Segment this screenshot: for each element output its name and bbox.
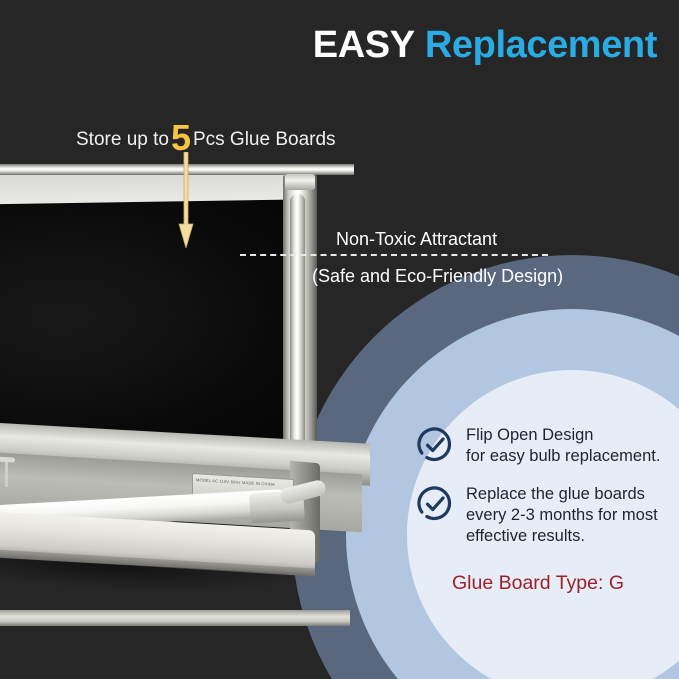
hinge-cap-top: [285, 174, 315, 190]
lid-bottom-rail: [0, 610, 350, 626]
glue-board-surface: [0, 199, 306, 452]
feature-item-label: Flip Open Design for easy bulb replaceme…: [466, 424, 660, 467]
dashed-divider: [240, 254, 548, 256]
feature-item-flip-open: Flip Open Design for easy bulb replaceme…: [414, 424, 679, 467]
check-circle-icon: [414, 483, 456, 525]
arrow-down-icon: [178, 152, 194, 248]
flip-open-lid-panel: [0, 169, 310, 464]
product-base-unit: MODEL AC 110V 60Hz MADE IN CHINA: [0, 432, 380, 592]
feature-item-replace-boards: Replace the glue boards every 2-3 months…: [414, 483, 679, 547]
glue-board-type-label: Glue Board Type: G: [452, 572, 624, 595]
page-title-primary: EASY: [313, 24, 415, 66]
page-title: EASY Replacement: [313, 26, 657, 64]
product-image: MODEL AC 110V 60Hz MADE IN CHINA: [0, 150, 420, 620]
check-circle-icon: [414, 424, 456, 466]
lid-hinge-rod: [290, 194, 305, 452]
product-spec-plate-label: MODEL AC 110V 60Hz MADE IN CHINA: [196, 477, 275, 487]
capacity-suffix: Pcs Glue Boards: [193, 129, 336, 150]
feature-list: Flip Open Design for easy bulb replaceme…: [414, 424, 679, 563]
attractant-title: Non-Toxic Attractant: [336, 229, 497, 250]
page-title-accent: Replacement: [425, 24, 657, 66]
base-retaining-rod-head: [0, 457, 15, 463]
attractant-subtitle: (Safe and Eco-Friendly Design): [312, 266, 563, 287]
product-feature-image: MODEL AC 110V 60Hz MADE IN CHINA EASY Re…: [0, 0, 679, 679]
feature-item-label: Replace the glue boards every 2-3 months…: [466, 483, 658, 547]
capacity-callout: Store up to5Pcs Glue Boards: [76, 126, 336, 152]
base-retaining-rod: [5, 461, 8, 487]
capacity-prefix: Store up to: [76, 129, 169, 150]
